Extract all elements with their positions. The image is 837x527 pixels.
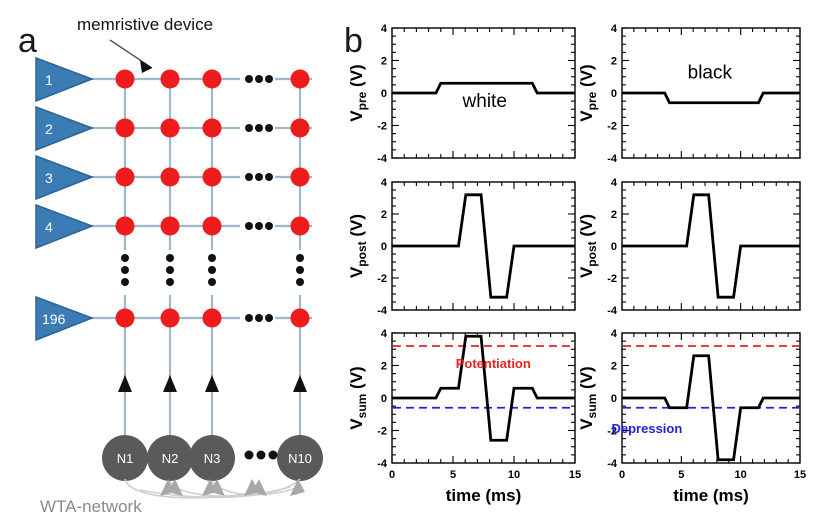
x-tick-label: 0 [389,469,395,481]
input-neuron-2-label: 2 [45,121,53,137]
y-tick-label: 2 [611,361,617,373]
y-tick-label: 4 [611,328,618,340]
y-axis-label: Vpre (V) [577,64,599,121]
wta-network-label: WTA-network [40,497,142,516]
plot-vpost-black: -4-2024Vpost (V) [577,177,800,317]
x-tick-label: 5 [450,469,456,481]
x-axis-label: time (ms) [673,486,749,505]
row-ellipsis-1 [245,75,273,83]
y-tick-label: -2 [377,426,387,438]
y-axis-label: Vpost (V) [577,214,599,278]
y-tick-label: 0 [611,393,617,405]
output-neuron-n10[interactable]: N10 [277,435,323,481]
input-neuron-1-label: 1 [45,72,53,88]
y-tick-label: 4 [381,23,388,35]
column-ellipsis-1 [121,254,129,286]
plot-vpost-white: -4-2024Vpost (V) [347,177,575,317]
input-neuron-4-label: 4 [45,219,53,235]
output-neuron-n1-label: N1 [117,451,134,466]
y-tick-label: -2 [607,121,617,133]
column-current-arrows [118,375,307,392]
plots-layer: -4-2024Vpre (V)white-4-2024Vpre (V)black… [347,23,806,505]
plot-vpre-black: -4-2024Vpre (V)black [577,23,800,165]
y-tick-label: 4 [611,177,618,189]
output-neuron-n2-label: N2 [162,451,179,466]
row-ellipsis-2 [245,124,273,132]
y-tick-label: 4 [611,23,618,35]
plot-vsum-black: -4-2024051015time (ms)Vsum (V)Depression [577,328,806,505]
y-axis-label: Vsum (V) [577,366,599,429]
memristive-device-label: memristive device [77,15,213,34]
input-neuron-196[interactable]: 196 [36,297,92,340]
y-tick-label: 2 [611,209,617,221]
y-tick-label: 0 [381,241,387,253]
row-ellipsis-4 [245,222,273,230]
output-neuron-n10-label: N10 [288,451,312,466]
wta-inhibition-arrows [160,479,305,496]
y-tick-label: -4 [377,153,388,165]
panel-b: b -4-2024Vpre (V)white-4-2024Vpre (V)bla… [344,22,806,505]
x-axis-label: time (ms) [446,486,522,505]
y-axis-label: Vpre (V) [347,64,369,121]
y-tick-label: 2 [381,361,387,373]
y-tick-label: 0 [381,393,387,405]
y-tick-label: -2 [377,273,387,285]
y-tick-label: 4 [381,328,388,340]
y-tick-label: -4 [607,153,618,165]
row-ellipsis-196 [245,314,273,322]
y-tick-label: -4 [377,458,388,470]
x-tick-label: 15 [569,469,581,481]
plot-annotation-white: white [462,91,507,112]
y-tick-label: -2 [377,121,387,133]
input-neuron-196-label: 196 [42,311,66,327]
plot-vsum-white: -4-2024051015time (ms)Vsum (V)Potentiati… [347,328,581,505]
y-tick-label: -2 [607,273,617,285]
y-tick-label: 0 [611,88,617,100]
y-tick-label: 0 [381,88,387,100]
input-neuron-3-label: 3 [45,170,53,186]
output-neuron-n3-label: N3 [204,451,221,466]
figure-svg: a memristive device [0,0,837,527]
output-neuron-n2[interactable]: N2 [147,435,193,481]
plot-annotation-potentiation: Potentiation [456,356,531,371]
output-neuron-n1[interactable]: N1 [102,435,148,481]
panel-a: a memristive device [18,15,323,516]
column-ellipsis-4 [296,254,304,286]
panel-a-letter: a [18,22,37,60]
x-tick-label: 5 [678,469,684,481]
y-tick-label: 2 [611,56,617,68]
plot-annotation-depression: Depression [612,421,683,436]
row-ellipsis-group [245,75,273,322]
x-tick-label: 0 [619,469,625,481]
y-axis-label: Vpost (V) [347,214,369,278]
x-tick-label: 10 [508,469,520,481]
x-tick-label: 10 [735,469,747,481]
column-ellipsis-2 [166,254,174,286]
input-neuron-2[interactable]: 2 [36,107,92,150]
figure-root: a memristive device [0,0,837,527]
row-ellipsis-3 [245,173,273,181]
input-neuron-3[interactable]: 3 [36,156,92,199]
y-tick-label: 2 [381,209,387,221]
column-ellipsis-group [121,254,304,286]
panel-b-letter: b [344,22,363,60]
y-tick-label: 2 [381,56,387,68]
input-neuron-1[interactable]: 1 [36,58,92,101]
y-tick-label: -4 [607,305,618,317]
y-tick-label: -4 [377,305,388,317]
memristive-device-arrow [110,40,152,73]
plot-vpre-white: -4-2024Vpre (V)white [347,23,575,165]
input-neuron-4[interactable]: 4 [36,205,92,248]
output-neuron-n3[interactable]: N3 [189,435,235,481]
plot-annotation-black: black [688,62,733,83]
y-axis-label: Vsum (V) [347,366,369,429]
output-neuron-ellipsis [245,451,278,460]
x-tick-label: 15 [794,469,806,481]
column-ellipsis-3 [208,254,216,286]
y-tick-label: 0 [611,241,617,253]
y-tick-label: 4 [381,177,388,189]
y-tick-label: -4 [607,458,618,470]
